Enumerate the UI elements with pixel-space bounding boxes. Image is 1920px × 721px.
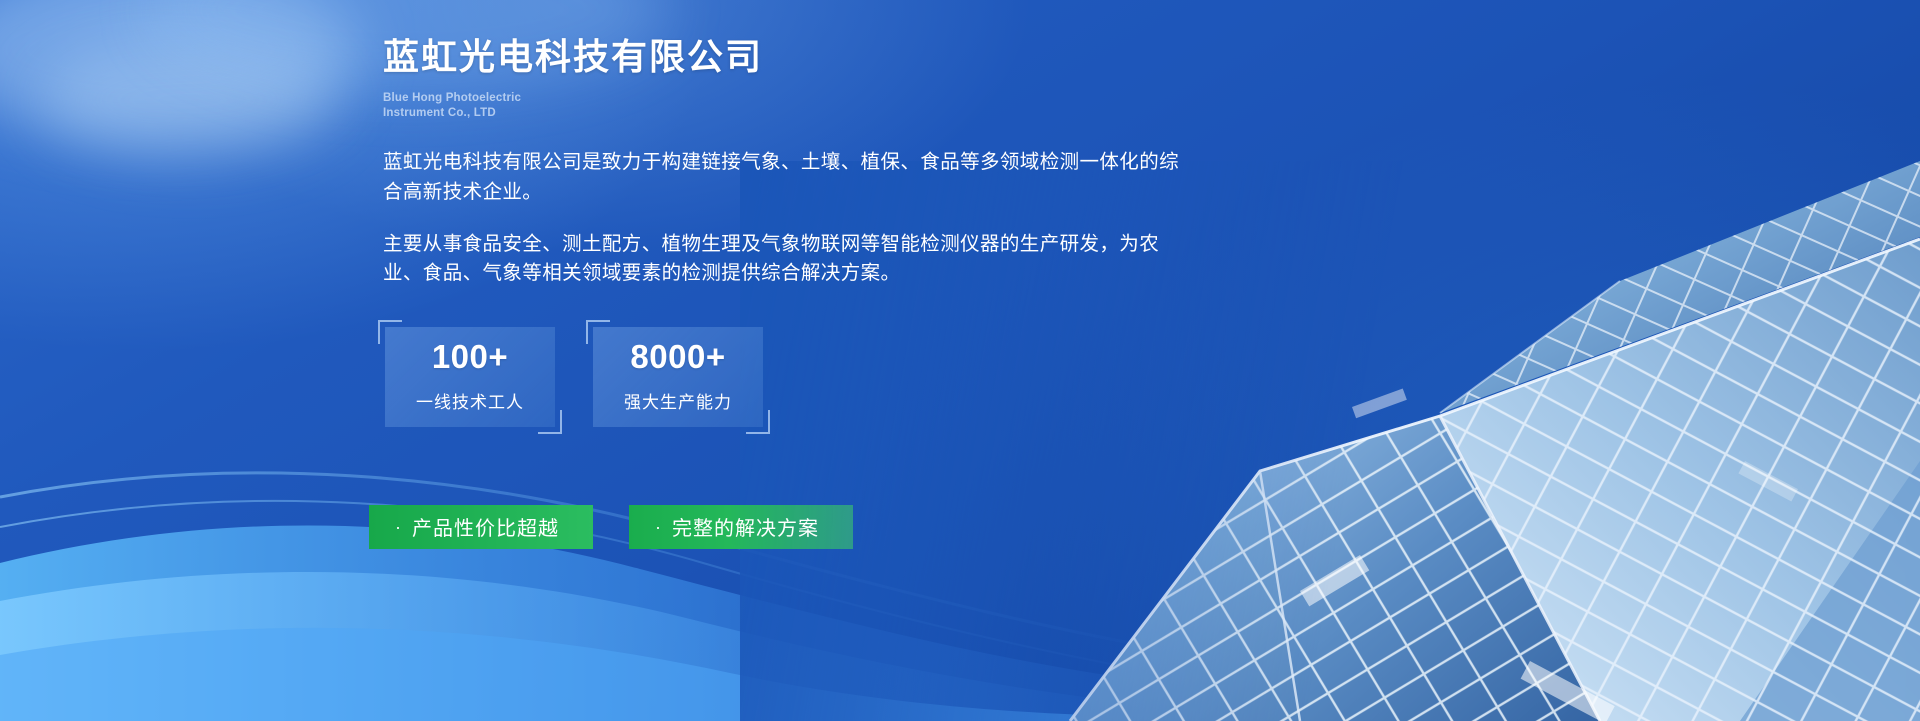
intro-paragraph-2: 主要从事食品安全、测土配方、植物生理及气象物联网等智能检测仪器的生产研发，为农业… — [383, 230, 1183, 289]
company-name-en-line1: Blue Hong Photoelectric — [383, 91, 1523, 106]
bullet-dot-icon: · — [395, 518, 402, 536]
feature-tags-group: · 产品性价比超越 · 完整的解决方案 — [369, 505, 1523, 549]
feature-tag-label: 产品性价比超越 — [412, 512, 559, 541]
stat-value: 8000+ — [630, 340, 725, 373]
stat-value: 100+ — [432, 340, 508, 373]
hero-banner: 蓝虹光电科技有限公司 Blue Hong Photoelectric Instr… — [0, 0, 1920, 721]
company-name-en-line2: Instrument Co., LTD — [383, 106, 1523, 121]
feature-tag-label: 完整的解决方案 — [672, 512, 819, 541]
stat-label: 强大生产能力 — [624, 388, 732, 413]
feature-tag[interactable]: · 完整的解决方案 — [629, 505, 853, 549]
intro-paragraph-1: 蓝虹光电科技有限公司是致力于构建链接气象、土壤、植保、食品等多领域检测一体化的综… — [383, 148, 1183, 207]
cloud-wisp-icon — [40, 40, 340, 160]
stats-group: 100+ 一线技术工人 8000+ 强大生产能力 — [385, 327, 1523, 427]
banner-content: 蓝虹光电科技有限公司 Blue Hong Photoelectric Instr… — [383, 34, 1523, 549]
bullet-dot-icon: · — [655, 518, 662, 536]
company-name-cn: 蓝虹光电科技有限公司 — [383, 34, 1523, 79]
stat-card: 100+ 一线技术工人 — [385, 327, 555, 427]
feature-tag[interactable]: · 产品性价比超越 — [369, 505, 593, 549]
stat-label: 一线技术工人 — [416, 388, 524, 413]
cloud-wisp-icon — [0, 0, 360, 140]
company-name-en: Blue Hong Photoelectric Instrument Co., … — [383, 91, 1523, 121]
stat-card: 8000+ 强大生产能力 — [593, 327, 763, 427]
